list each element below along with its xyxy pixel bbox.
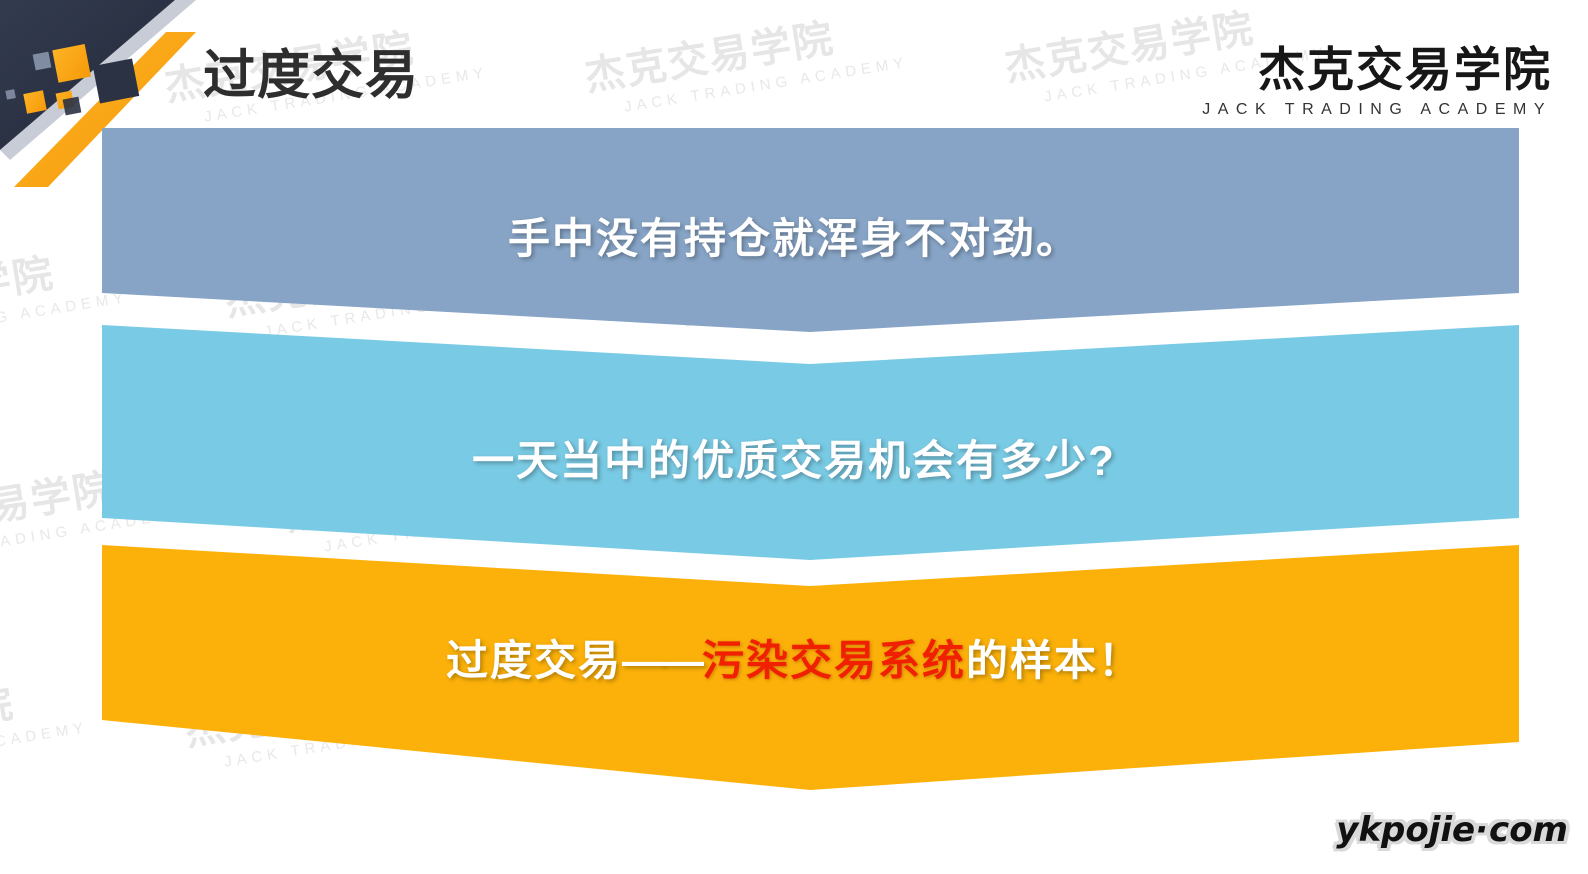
site-watermark-dot: · (1475, 810, 1489, 850)
brand-name-en: JACK TRADING ACADEMY (1202, 102, 1552, 118)
banner3-dash: —— (622, 637, 702, 684)
brand-name-cn: 杰克交易学院 (1202, 46, 1552, 93)
banner-text-2: 一天当中的优质交易机会有多少? (0, 440, 1588, 482)
brand-logo: 杰克交易学院 JACK TRADING ACADEMY (1202, 46, 1552, 118)
banner3-tail: 的样本！ (966, 637, 1142, 684)
banner3-highlight: 污染交易系统 (702, 637, 966, 684)
site-watermark: ykpojie·com (1336, 810, 1568, 850)
banner-text-1: 手中没有持仓就浑身不对劲。 (0, 218, 1588, 260)
site-watermark-tld: com (1489, 810, 1568, 850)
page-title: 过度交易 (203, 49, 419, 102)
banner-text-3: 过度交易——污染交易系统的样本！ (0, 640, 1588, 682)
banner3-lead: 过度交易 (446, 637, 622, 684)
slide-canvas: 杰克交易学院 JACK TRADING ACADEMY 杰克交易学院 JACK … (0, 0, 1588, 874)
site-watermark-name: ykpojie (1336, 810, 1475, 850)
